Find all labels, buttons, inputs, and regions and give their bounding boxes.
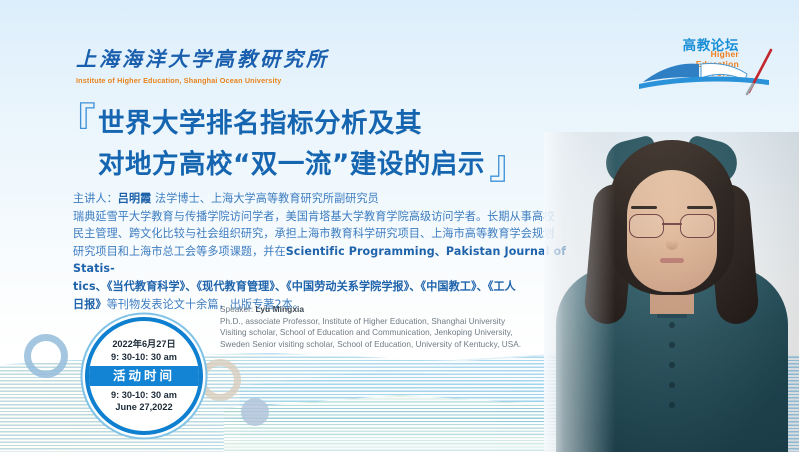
speaker-label-en: Speaker: <box>220 305 253 314</box>
badge-date-time-cn: 2022年6月27日 9: 30-10: 30 am <box>107 338 181 363</box>
bio-en-line-4: Sweden Senior visiting scholar, School o… <box>220 339 565 351</box>
bio-cn-line-3: 民主管理、跨文化比较与社会组织研究，承担上海市教育科学研究项目、上海市高等教育学… <box>73 225 573 243</box>
speaker-bio-en: Speaker: Lyu Mingxia Ph.D., associate Pr… <box>220 304 565 350</box>
decorative-ring-right <box>199 359 241 401</box>
title-line-2: 对地方高校“双一流”建设的启示 <box>98 144 485 185</box>
portrait-edge-fade <box>544 132 799 452</box>
title-lines: 世界大学排名指标分析及其 对地方高校“双一流”建设的启示 <box>98 103 485 185</box>
bracket-open: 『 <box>56 103 96 143</box>
bracket-close: 』 <box>489 145 529 185</box>
bio-en-line-1: Speaker: Lyu Mingxia <box>220 304 565 316</box>
speaker-label-cn: 主讲人： <box>73 192 118 205</box>
badge-date-en: June 27,2022 <box>111 401 177 413</box>
journal-names-2: tics、《当代教育科学》、《现代教育管理》、《中国劳动关系学院学报》、《中国教… <box>73 278 573 296</box>
bio-en-line-2: Ph.D., associate Professor, Institute of… <box>220 316 565 328</box>
open-book-and-pen-icon <box>637 48 787 96</box>
bio-cn-line-1: 主讲人：吕明霞 法学博士、上海大学高等教育研究所副研究员 <box>73 190 573 208</box>
event-time-badge: 2022年6月27日 9: 30-10: 30 am 活动时间 9: 30-10… <box>85 317 203 435</box>
speaker-name-cn: 吕明霞 <box>118 192 152 205</box>
page-title: 『 世界大学排名指标分析及其 对地方高校“双一流”建设的启示 』 <box>56 103 576 185</box>
speaker-titles-cn: 法学博士、上海大学高等教育研究所副研究员 <box>151 192 379 205</box>
badge-label: 活动时间 <box>89 366 199 386</box>
bio-en-line-3: Visiting scholar, School of Education an… <box>220 327 565 339</box>
badge-date-time-en: 9: 30-10: 30 am June 27,2022 <box>107 389 181 414</box>
university-name-en: Institute of Higher Education, Shanghai … <box>76 76 329 85</box>
speaker-bio-cn: 主讲人：吕明霞 法学博士、上海大学高等教育研究所副研究员 瑞典延雪平大学教育与传… <box>73 190 573 313</box>
badge-time-en: 9: 30-10: 30 am <box>111 389 177 401</box>
university-name-cn: 上海海洋大学高教研究所 <box>76 43 329 72</box>
journal-names-3: 日报》 <box>73 298 107 311</box>
decorative-dot <box>241 398 269 426</box>
badge-date-cn: 2022年6月27日 <box>111 338 177 350</box>
title-line-1: 世界大学排名指标分析及其 <box>98 103 485 144</box>
bio-cn-line-4: 研究项目和上海市总工会等多项课题，并在Scientific Programmin… <box>73 243 573 278</box>
bio-cn-line-2: 瑞典延雪平大学教育与传播学院访问学者，美国肯塔基大学教育学院高级访问学者。长期从… <box>73 208 573 226</box>
decorative-ring-left <box>24 334 68 378</box>
badge-time-cn: 9: 30-10: 30 am <box>111 351 177 363</box>
poster-canvas: 上海海洋大学高教研究所 Institute of Higher Educatio… <box>0 0 799 452</box>
speaker-name-en: Lyu Mingxia <box>256 304 305 314</box>
speaker-portrait <box>544 132 799 452</box>
forum-logo: 高教论坛 Higher Education Forum <box>637 34 787 96</box>
university-logo: 上海海洋大学高教研究所 Institute of Higher Educatio… <box>76 43 329 85</box>
bio-cn-line-4-pre: 研究项目和上海市总工会等多项课题，并在 <box>73 245 286 258</box>
